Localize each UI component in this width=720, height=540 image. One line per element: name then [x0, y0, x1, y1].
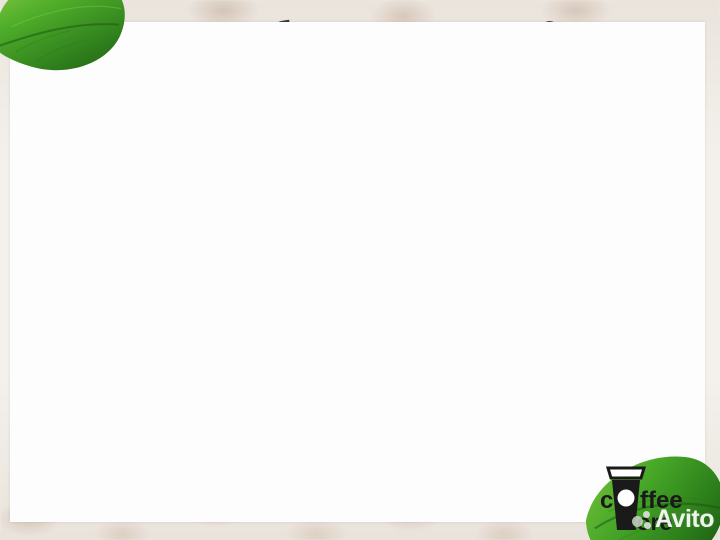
- content-card: [10, 22, 705, 522]
